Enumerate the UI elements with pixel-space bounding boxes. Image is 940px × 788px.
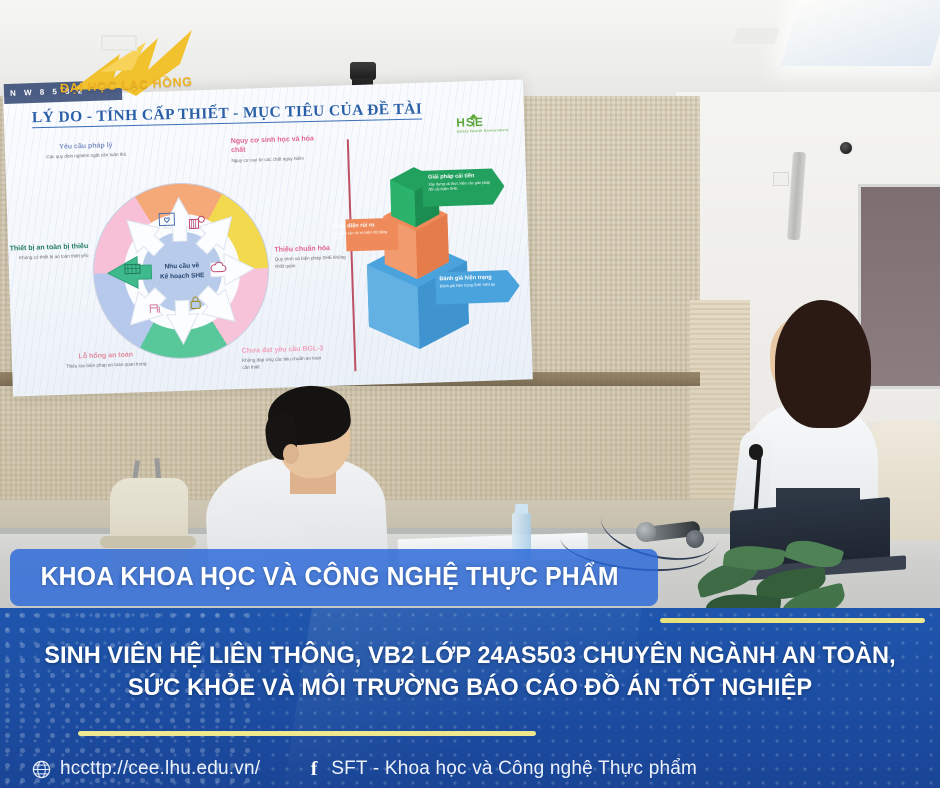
ceiling-light — [781, 0, 940, 66]
ceiling-light-secondary — [732, 28, 779, 44]
poster-root: LÝ DO - TÍNH CẤP THIẾT - MỤC TIÊU CỦA ĐỀ… — [0, 0, 940, 788]
chair-armrest — [100, 536, 196, 548]
faculty-banner-title: KHOA KHOA HỌC VÀ CÔNG NGHỆ THỰC PHẨM — [19, 563, 618, 592]
microphone-head — [749, 444, 763, 460]
headline-line-1: SINH VIÊN HỆ LIÊN THÔNG, VB2 LỚP 24AS503… — [19, 640, 921, 672]
pyramid-tag-base: Đánh giá hiện trạng Đánh giá hiện trạng … — [439, 274, 503, 289]
footer-facebook[interactable]: f SFT - Khoa học và Công nghệ Thực phẩm — [306, 758, 697, 780]
water-bottle-cap — [515, 504, 528, 514]
wheel-label-3: Chưa đạt yêu cầu BGL-3 Không đáp ứng các… — [242, 344, 325, 371]
pyramid-diagram: Giải pháp cải tiến Xây dựng và thực hiện… — [343, 139, 530, 365]
faculty-banner: KHOA KHOA HỌC VÀ CÔNG NGHỆ THỰC PHẨM — [10, 549, 658, 606]
wheel-label-2: Thiếu chuẩn hóa Quy trình và biện pháp S… — [274, 243, 349, 269]
wheel-label-4: Lỗ hổng an toàn Thiếu rào biện pháp an t… — [60, 350, 153, 371]
wheel-label-0: Yêu cầu pháp lý Các quy định nghiêm ngặt… — [41, 140, 132, 161]
cloud-icon — [210, 260, 227, 275]
lock-icon — [187, 295, 204, 310]
she-wheel: Nhu cầu về Kế hoạch SHE — [90, 180, 272, 362]
presenter-hair — [775, 300, 871, 428]
bird-logo-icon — [62, 18, 202, 108]
hazard-flask-icon — [188, 215, 205, 230]
facebook-icon: f — [306, 760, 322, 779]
pyramid-tag-middle: Nhận diện rủi ro Xác định các rủi ro kiể… — [332, 222, 391, 243]
heart-document-icon — [158, 212, 175, 227]
divider-right — [660, 618, 925, 623]
footer-website[interactable]: hccttp://cee.lhu.edu.vn/ — [32, 758, 260, 780]
divider-left — [78, 731, 536, 736]
headline-line-2: SỨC KHỎE VÀ MÔI TRƯỜNG BÁO CÁO ĐỒ ÁN TỐT… — [19, 672, 921, 704]
footer-facebook-text: SFT - Khoa học và Công nghệ Thực phẩm — [331, 758, 697, 780]
wall-outlet — [773, 172, 789, 186]
footer-bar: hccttp://cee.lhu.edu.vn/ f SFT - Khoa họ… — [0, 752, 940, 786]
hse-logo: HSE Safety Health Environment — [456, 114, 509, 134]
pyramid-tag-top: Giải pháp cải tiến Xây dựng và thực hiện… — [428, 173, 493, 194]
footer-website-text: hccttp://cee.lhu.edu.vn/ — [60, 758, 260, 780]
wheel-arrows — [91, 181, 271, 361]
university-logo — [62, 18, 202, 108]
seated-person-ear — [283, 444, 299, 464]
cabinet-icon — [124, 261, 141, 276]
event-photo: LÝ DO - TÍNH CẤP THIẾT - MỤC TIÊU CỦA ĐỀ… — [0, 0, 940, 640]
event-headline: SINH VIÊN HỆ LIÊN THÔNG, VB2 LỚP 24AS503… — [19, 640, 921, 705]
projection-screen: LÝ DO - TÍNH CẤP THIẾT - MỤC TIÊU CỦA ĐỀ… — [3, 79, 533, 396]
wheel-label-1: Nguy cơ sinh học và hóa chất Nguy cơ cao… — [231, 134, 318, 164]
security-camera-icon — [838, 140, 854, 156]
wheel-label-5: Thiết bị an toàn bị thiếu Không có thiết… — [8, 242, 89, 262]
globe-icon — [32, 760, 51, 779]
lab-bench-icon — [147, 300, 164, 315]
